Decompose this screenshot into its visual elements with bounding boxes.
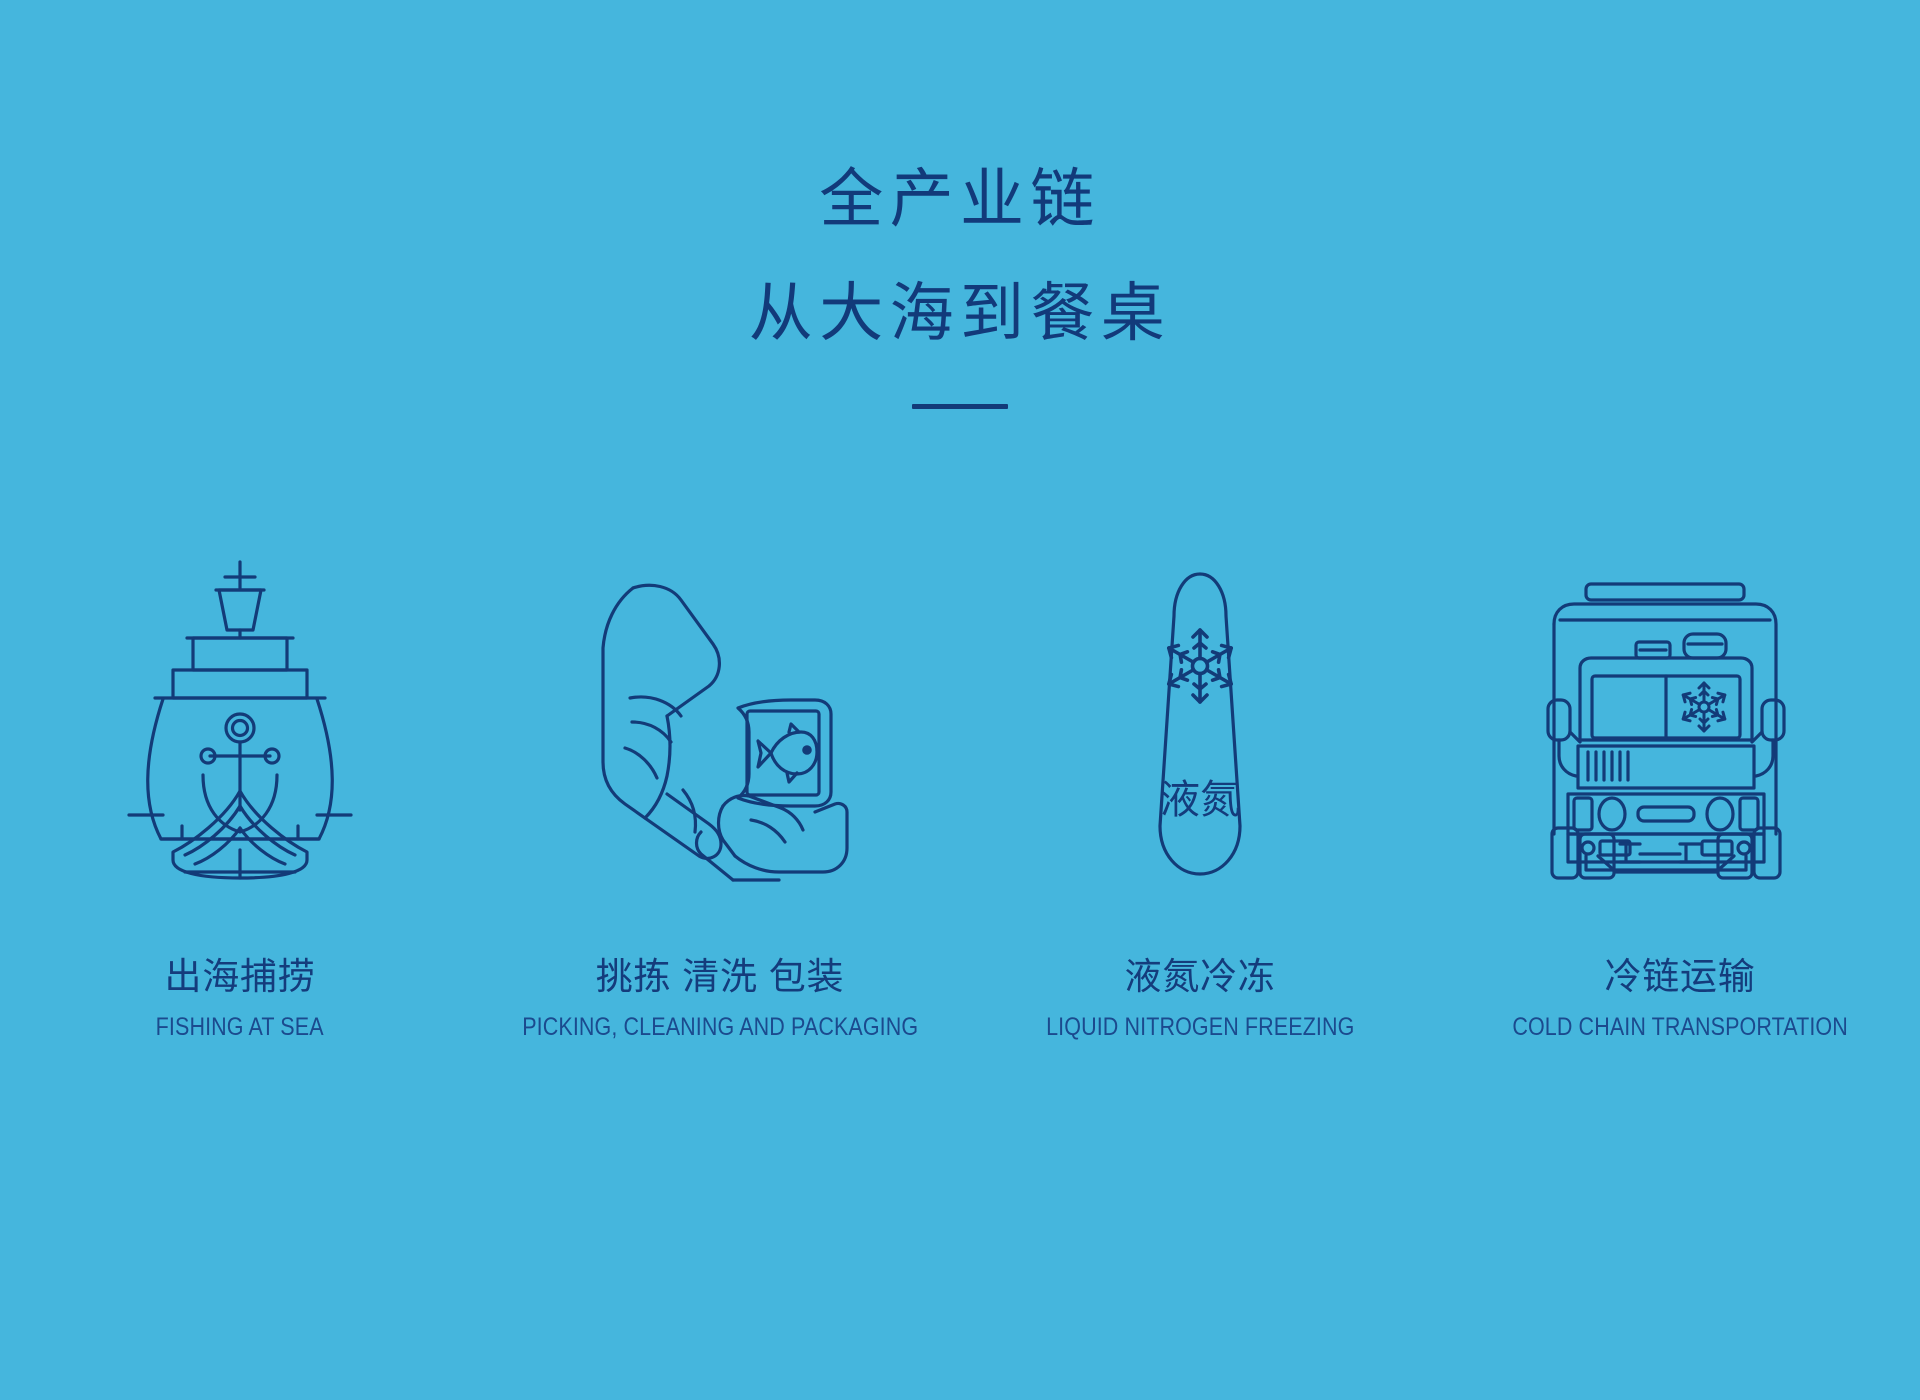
page-title-line-2: 从大海到餐桌 — [0, 282, 1920, 346]
liquid-nitrogen-tank-icon: 液氮 — [1135, 540, 1265, 880]
step-fishing-labels: 出海捕捞 FISHING AT SEA — [142, 954, 337, 1042]
step-transport[interactable]: 冷链运输 COLD CHAIN TRANSPORTATION — [1440, 540, 1920, 1042]
step-freezing[interactable]: 液氮 液氮冷冻 LIQUID NITROGEN FREEZING — [960, 540, 1440, 1042]
step-transport-labels: 冷链运输 COLD CHAIN TRANSPORTATION — [1485, 954, 1875, 1042]
page-title-line-1: 全产业链 — [0, 168, 1920, 232]
process-steps-row: 出海捕捞 FISHING AT SEA — [0, 540, 1920, 1042]
tank-label: 液氮 — [1160, 778, 1240, 822]
step-processing[interactable]: 挑拣 清洗 包装 PICKING, CLEANING AND PACKAGING — [480, 540, 960, 1042]
step-freezing-labels: 液氮冷冻 LIQUID NITROGEN FREEZING — [1021, 954, 1380, 1042]
step-label-cn: 挑拣 清洗 包装 — [490, 954, 950, 1000]
step-processing-labels: 挑拣 清洗 包装 PICKING, CLEANING AND PACKAGING — [490, 954, 950, 1042]
hands-fish-package-icon — [575, 540, 865, 880]
refrigerated-truck-icon — [1544, 540, 1816, 880]
step-label-en: COLD CHAIN TRANSPORTATION — [1512, 1012, 1848, 1042]
page-header: 全产业链 从大海到餐桌 — [0, 0, 1920, 409]
step-label-en: LIQUID NITROGEN FREEZING — [1046, 1012, 1354, 1042]
step-label-en: PICKING, CLEANING AND PACKAGING — [522, 1012, 918, 1042]
step-label-cn: 出海捕捞 — [142, 954, 337, 1000]
step-label-en: FISHING AT SEA — [156, 1012, 324, 1042]
step-label-cn: 冷链运输 — [1485, 954, 1875, 1000]
step-label-cn: 液氮冷冻 — [1021, 954, 1380, 1000]
fishing-boat-icon — [115, 540, 365, 880]
title-divider — [912, 404, 1008, 409]
step-fishing[interactable]: 出海捕捞 FISHING AT SEA — [0, 540, 480, 1042]
